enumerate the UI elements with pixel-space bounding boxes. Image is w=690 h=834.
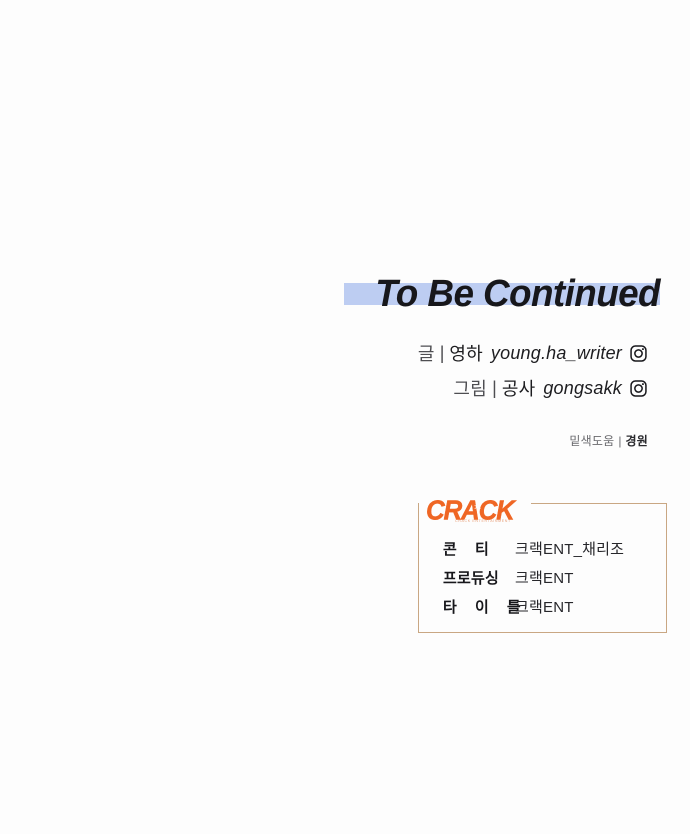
credit-separator: | <box>492 378 497 399</box>
studio-credits-table: 콘 티 크랙ENT_채리조 프로듀싱 크랙ENT 타 이 틀 크랙ENT <box>443 538 653 617</box>
studio-role-label: 콘 티 <box>443 538 515 559</box>
credit-role-colorist: 밑색도움 <box>569 432 614 449</box>
table-row: 콘 티 크랙ENT_채리조 <box>443 538 653 559</box>
credit-handle-writer: young.ha_writer <box>491 343 622 364</box>
table-row: 프로듀싱 크랙ENT <box>443 567 653 588</box>
studio-role-value: 크랙ENT <box>515 567 574 588</box>
end-card-page: To Be Continued 글 | 영하 young.ha_writer 그… <box>0 0 690 834</box>
credit-handle-artist: gongsakk <box>543 378 622 399</box>
credit-line-colorist: 밑색도움 | 경원 <box>569 432 648 449</box>
studio-role-label: 타 이 틀 <box>443 596 515 617</box>
credit-line-writer: 글 | 영하 young.ha_writer <box>418 340 648 366</box>
credit-line-artist: 그림 | 공사 gongsakk <box>453 375 648 401</box>
to-be-continued-block: To Be Continued <box>0 266 690 326</box>
credit-name-artist: 공사 <box>502 375 536 401</box>
crack-studio-logo: CRACK ✶ CRACK ENTERTAINMENT <box>426 498 530 528</box>
credit-name-writer: 영하 <box>449 340 483 366</box>
credit-role-writer: 글 <box>418 340 435 366</box>
credit-separator: | <box>440 343 445 364</box>
table-row: 타 이 틀 크랙ENT <box>443 596 653 617</box>
studio-role-label: 프로듀싱 <box>443 567 515 588</box>
page-title: To Be Continued <box>20 266 660 322</box>
credit-name-colorist: 경원 <box>626 432 648 449</box>
studio-logo-subtitle: CRACK ENTERTAINMENT <box>455 518 511 523</box>
instagram-icon[interactable] <box>629 379 648 398</box>
credit-role-artist: 그림 <box>453 375 487 401</box>
credit-separator: | <box>618 434 621 448</box>
studio-role-value: 크랙ENT <box>515 596 574 617</box>
studio-role-value: 크랙ENT_채리조 <box>515 538 624 559</box>
instagram-icon[interactable] <box>629 344 648 363</box>
